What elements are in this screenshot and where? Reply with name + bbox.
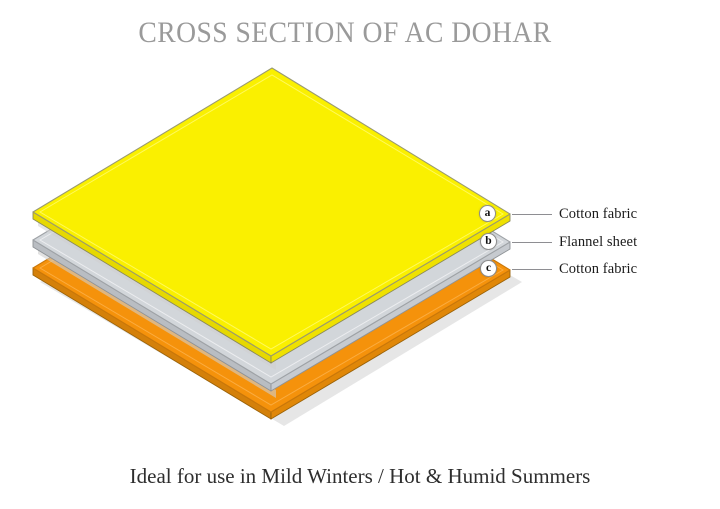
leader-line-b — [512, 242, 552, 243]
layer-stack-illustration — [0, 0, 720, 509]
leader-line-a — [512, 214, 552, 215]
layer-badge-a[interactable]: a — [479, 205, 496, 222]
legend-label-c: Cotton fabric — [559, 261, 637, 278]
leader-line-c — [512, 269, 552, 270]
page-caption: Ideal for use in Mild Winters / Hot & Hu… — [0, 464, 720, 489]
legend-row-a[interactable]: Cotton fabric — [512, 205, 637, 223]
legend-row-b[interactable]: Flannel sheet — [512, 233, 637, 251]
legend-row-c[interactable]: Cotton fabric — [512, 260, 637, 278]
legend-label-b: Flannel sheet — [559, 234, 637, 251]
legend-label-a: Cotton fabric — [559, 206, 637, 223]
layer-badge-b[interactable]: b — [480, 233, 497, 250]
layer-badge-c[interactable]: c — [480, 260, 497, 277]
diagram-stage: CROSS SECTION OF AC DOHAR — [0, 0, 720, 509]
